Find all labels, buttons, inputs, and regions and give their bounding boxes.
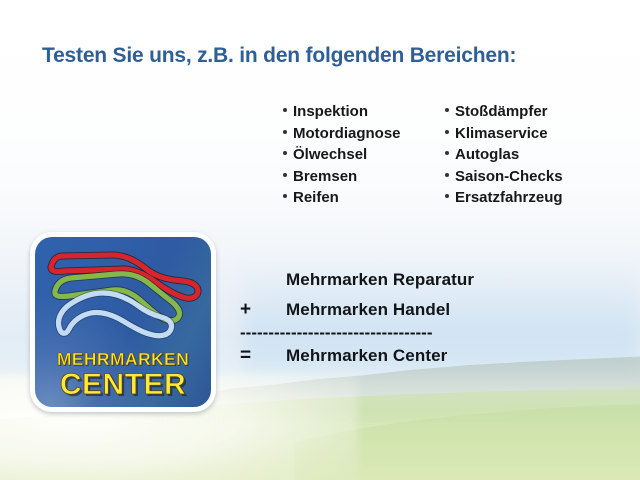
list-item-label: Ölwechsel — [293, 144, 367, 166]
bullet-dot-icon — [445, 194, 449, 198]
bullet-dot-icon — [283, 108, 287, 112]
logo-badge-background: MEHRMARKEN CENTER — [35, 237, 211, 407]
services-right-column: Stoßdämpfer Klimaservice Autoglas Saison… — [445, 101, 563, 209]
list-item-label: Saison-Checks — [455, 166, 563, 188]
bullet-dot-icon — [283, 130, 287, 134]
bullet-dot-icon — [445, 108, 449, 112]
list-item: Reifen — [283, 187, 401, 209]
list-item: Bremsen — [283, 166, 401, 188]
bullet-dot-icon — [445, 151, 449, 155]
logo-line-mehrmarken: MEHRMARKEN — [35, 349, 211, 369]
bullet-dot-icon — [445, 173, 449, 177]
list-item: Motordiagnose — [283, 123, 401, 145]
mehrmarken-center-logo: MEHRMARKEN CENTER — [30, 232, 216, 412]
car-outline-blue-icon — [58, 293, 171, 336]
equation-term: Mehrmarken Center — [286, 346, 562, 366]
equation-divider: ---------------------------------- — [240, 326, 562, 339]
logo-car-outlines — [43, 245, 211, 343]
equation-row-result: = Mehrmarken Center — [240, 341, 562, 371]
bullet-dot-icon — [283, 194, 287, 198]
slide-canvas: Testen Sie uns, z.B. in den folgenden Be… — [0, 0, 640, 480]
equation-term: Mehrmarken Handel — [286, 300, 562, 320]
equation-term: Mehrmarken Reparatur — [286, 270, 562, 290]
equation-row-1: Mehrmarken Reparatur — [240, 265, 562, 295]
list-item-label: Motordiagnose — [293, 123, 401, 145]
logo-line-center: CENTER — [35, 369, 211, 401]
equation-row-2: + Mehrmarken Handel — [240, 295, 562, 325]
list-item: Klimaservice — [445, 123, 563, 145]
list-item: Ölwechsel — [283, 144, 401, 166]
bullet-dot-icon — [283, 173, 287, 177]
list-item: Saison-Checks — [445, 166, 563, 188]
list-item: Ersatzfahrzeug — [445, 187, 563, 209]
bullet-dot-icon — [283, 151, 287, 155]
equation-block: Mehrmarken Reparatur + Mehrmarken Handel… — [240, 265, 562, 371]
bullet-dot-icon — [445, 130, 449, 134]
list-item: Stoßdämpfer — [445, 101, 563, 123]
list-item-label: Stoßdämpfer — [455, 101, 548, 123]
services-left-column: Inspektion Motordiagnose Ölwechsel Brems… — [283, 101, 401, 209]
list-item-label: Klimaservice — [455, 123, 548, 145]
list-item-label: Autoglas — [455, 144, 519, 166]
list-item-label: Bremsen — [293, 166, 357, 188]
list-item: Inspektion — [283, 101, 401, 123]
logo-wordmark: MEHRMARKEN CENTER — [35, 349, 211, 401]
list-item-label: Ersatzfahrzeug — [455, 187, 563, 209]
list-item-label: Inspektion — [293, 101, 368, 123]
equation-operator: = — [240, 345, 286, 367]
page-title: Testen Sie uns, z.B. in den folgenden Be… — [42, 44, 516, 68]
list-item-label: Reifen — [293, 187, 339, 209]
list-item: Autoglas — [445, 144, 563, 166]
equation-operator: + — [240, 299, 286, 321]
